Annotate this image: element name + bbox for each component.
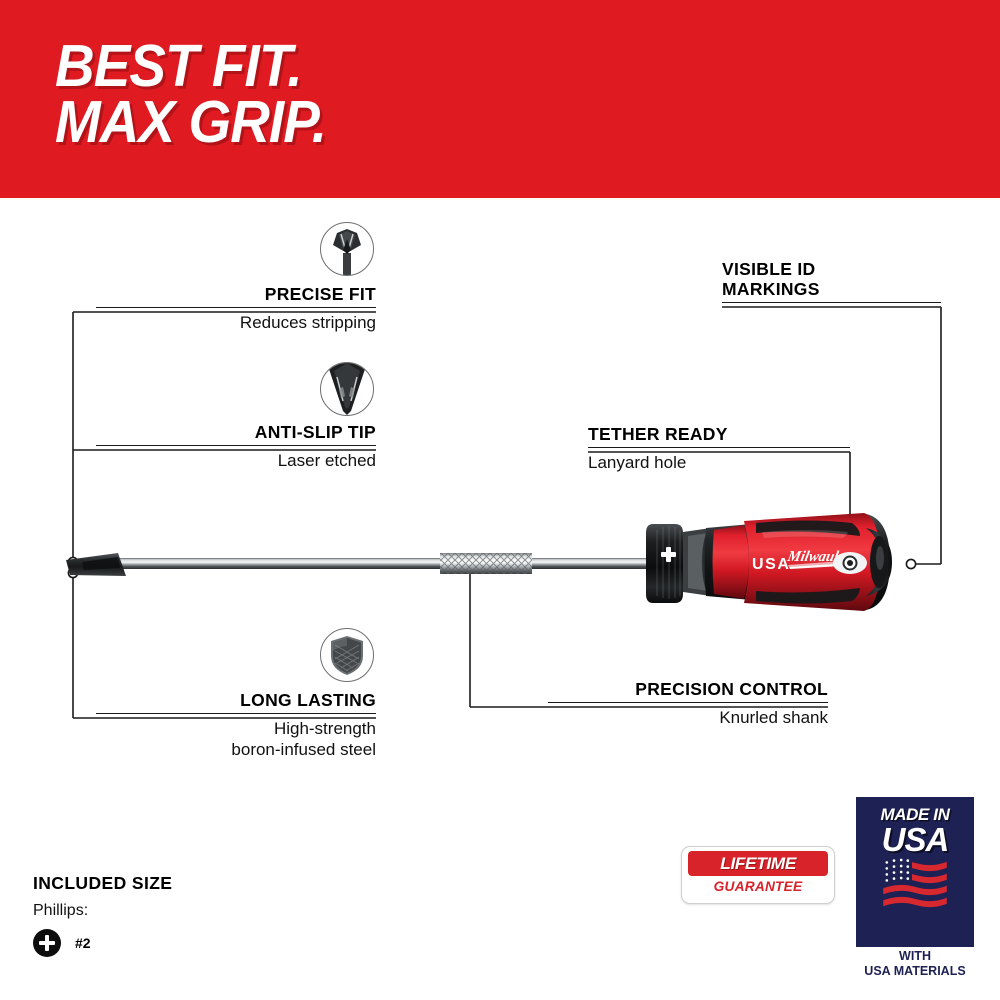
usa-materials-footer: WITH USA MATERIALS xyxy=(856,949,974,979)
callout-subtitle: Knurled shank xyxy=(548,707,828,728)
usa-flag-box: MADE IN USA xyxy=(856,797,974,947)
callout-rule xyxy=(96,713,376,714)
callout-subtitle: Laser etched xyxy=(96,450,376,471)
callout-title: TETHER READY xyxy=(588,424,850,444)
lifetime-label: LIFETIME xyxy=(720,854,796,874)
callout-rule xyxy=(96,307,376,308)
callout-title: VISIBLE ID MARKINGS xyxy=(722,259,941,299)
usa-footer-line-2: USA MATERIALS xyxy=(856,964,974,979)
callout-rule xyxy=(96,445,376,446)
lifetime-banner: LIFETIME xyxy=(688,851,828,876)
phillips-icon xyxy=(33,929,61,957)
callout-rule xyxy=(722,302,941,303)
phillips-size-label: #2 xyxy=(75,935,91,951)
made-in-usa-badge: MADE IN USA WITH USA MATERIALS xyxy=(856,797,974,982)
screwdriver-illustration: USA Milwaukee xyxy=(0,0,1000,1000)
usa-footer-line-1: WITH xyxy=(856,949,974,964)
callout-rule xyxy=(548,702,828,703)
guarantee-label: GUARANTEE xyxy=(684,878,833,894)
included-size-title: INCLUDED SIZE xyxy=(33,873,172,894)
screw-head-bit-icon xyxy=(320,222,374,276)
callout-rule xyxy=(588,447,850,448)
callout-anti-slip-tip: ANTI-SLIP TIP Laser etched xyxy=(96,422,376,471)
callout-title: LONG LASTING xyxy=(96,690,376,710)
callout-title: PRECISE FIT xyxy=(96,284,376,304)
pointed-tip-icon xyxy=(320,362,374,416)
callout-subtitle: High-strength boron-infused steel xyxy=(96,718,376,760)
callout-subtitle: Reduces stripping xyxy=(96,312,376,333)
included-size-row: #2 xyxy=(33,929,172,957)
included-size-type: Phillips: xyxy=(33,902,172,920)
usa-flag-icon xyxy=(856,857,974,947)
lifetime-guarantee-badge: LIFETIME GUARANTEE xyxy=(681,846,835,904)
lanyard-hole xyxy=(833,552,867,574)
callout-subtitle: Lanyard hole xyxy=(588,452,850,473)
shield-icon xyxy=(320,628,374,682)
usa-label: USA xyxy=(856,823,974,856)
callout-precision-control: PRECISION CONTROL Knurled shank xyxy=(548,679,828,728)
product-infographic: BEST FIT.MAX GRIP. xyxy=(0,0,1000,1000)
callout-precise-fit: PRECISE FIT Reduces stripping xyxy=(96,284,376,333)
handle-usa-marking: USA xyxy=(752,556,791,573)
callout-title: ANTI-SLIP TIP xyxy=(96,422,376,442)
included-size-section: INCLUDED SIZE Phillips: #2 xyxy=(33,873,172,957)
callout-long-lasting: LONG LASTING High-strength boron-infused… xyxy=(96,690,376,760)
callout-tether-ready: TETHER READY Lanyard hole xyxy=(588,424,850,473)
callout-title: PRECISION CONTROL xyxy=(548,679,828,699)
callout-visible-id-markings: VISIBLE ID MARKINGS xyxy=(722,259,941,303)
